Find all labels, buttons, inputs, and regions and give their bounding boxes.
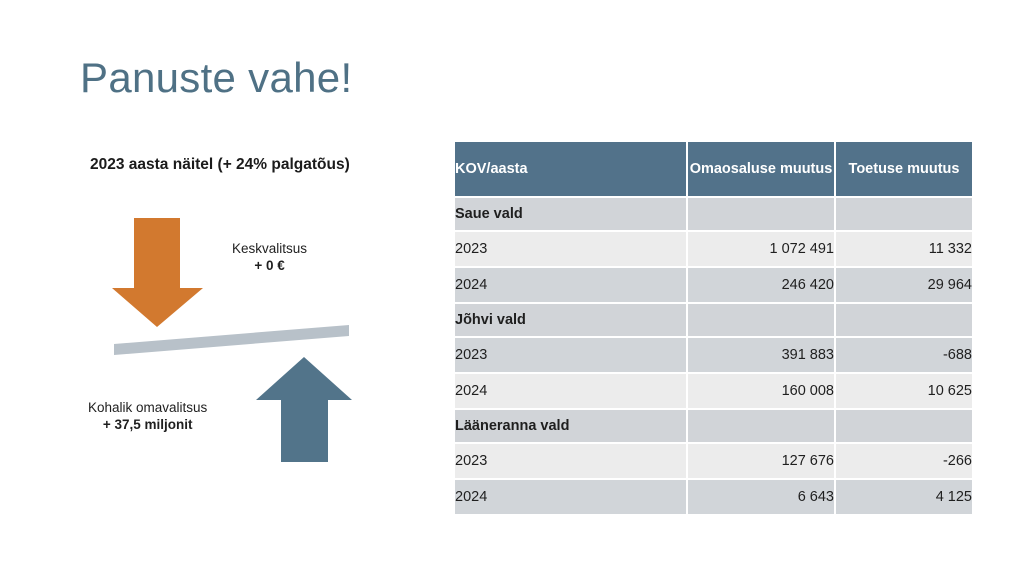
seesaw-diagram bbox=[0, 0, 440, 576]
table-row: 2023 1 072 491 11 332 bbox=[455, 232, 972, 266]
table-row: 2024 246 420 29 964 bbox=[455, 268, 972, 302]
local-government-value: + 37,5 miljonit bbox=[88, 416, 207, 433]
table-header-row: KOV/aasta Omaosaluse muutus Toetuse muut… bbox=[455, 142, 972, 196]
label-local-government: Kohalik omavalitsus + 37,5 miljonit bbox=[88, 399, 207, 434]
cell-omaosaluse-muutus: 1 072 491 bbox=[688, 232, 834, 266]
table-row: 2024 6 643 4 125 bbox=[455, 480, 972, 514]
group-spacer-own bbox=[688, 198, 834, 230]
table-row: 2024 160 008 10 625 bbox=[455, 374, 972, 408]
cell-year: 2024 bbox=[455, 268, 686, 302]
central-government-value: + 0 € bbox=[232, 257, 307, 274]
column-header-toetuse-muutus: Toetuse muutus bbox=[836, 142, 972, 196]
table-header: KOV/aasta Omaosaluse muutus Toetuse muut… bbox=[455, 142, 972, 196]
column-header-omaosaluse-muutus: Omaosaluse muutus bbox=[688, 142, 834, 196]
cell-toetuse-muutus: 11 332 bbox=[836, 232, 972, 266]
table-group-row: Jõhvi vald bbox=[455, 304, 972, 336]
table-group-row: Lääneranna vald bbox=[455, 410, 972, 442]
cell-year: 2023 bbox=[455, 232, 686, 266]
cell-omaosaluse-muutus: 246 420 bbox=[688, 268, 834, 302]
group-spacer-supp bbox=[836, 198, 972, 230]
cell-year: 2023 bbox=[455, 444, 686, 478]
cell-toetuse-muutus: -688 bbox=[836, 338, 972, 372]
group-name-laaneranna-vald: Lääneranna vald bbox=[455, 410, 686, 442]
cell-toetuse-muutus: 4 125 bbox=[836, 480, 972, 514]
cell-omaosaluse-muutus: 391 883 bbox=[688, 338, 834, 372]
arrow-down-icon bbox=[112, 218, 203, 327]
cell-year: 2024 bbox=[455, 480, 686, 514]
cell-omaosaluse-muutus: 127 676 bbox=[688, 444, 834, 478]
seesaw-illustration: 2023 aasta näitel (+ 24% palgatõus) Kesk… bbox=[0, 0, 440, 576]
cell-omaosaluse-muutus: 160 008 bbox=[688, 374, 834, 408]
central-government-caption: Keskvalitsus bbox=[232, 240, 307, 257]
cell-year: 2024 bbox=[455, 374, 686, 408]
cell-toetuse-muutus: 10 625 bbox=[836, 374, 972, 408]
group-spacer-own bbox=[688, 410, 834, 442]
cell-toetuse-muutus: 29 964 bbox=[836, 268, 972, 302]
local-government-caption: Kohalik omavalitsus bbox=[88, 399, 207, 416]
table-row: 2023 127 676 -266 bbox=[455, 444, 972, 478]
group-spacer-supp bbox=[836, 304, 972, 336]
group-spacer-supp bbox=[836, 410, 972, 442]
table-body: Saue vald 2023 1 072 491 11 332 2024 246… bbox=[455, 198, 972, 514]
seesaw-beam-icon bbox=[114, 325, 349, 355]
table-group-row: Saue vald bbox=[455, 198, 972, 230]
group-name-saue-vald: Saue vald bbox=[455, 198, 686, 230]
group-spacer-own bbox=[688, 304, 834, 336]
group-name-johvi-vald: Jõhvi vald bbox=[455, 304, 686, 336]
table-row: 2023 391 883 -688 bbox=[455, 338, 972, 372]
kov-comparison-table: KOV/aasta Omaosaluse muutus Toetuse muut… bbox=[453, 140, 974, 516]
column-header-kov-aasta: KOV/aasta bbox=[455, 142, 686, 196]
label-central-government: Keskvalitsus + 0 € bbox=[232, 240, 307, 275]
arrow-up-icon bbox=[256, 357, 352, 462]
cell-toetuse-muutus: -266 bbox=[836, 444, 972, 478]
cell-year: 2023 bbox=[455, 338, 686, 372]
cell-omaosaluse-muutus: 6 643 bbox=[688, 480, 834, 514]
